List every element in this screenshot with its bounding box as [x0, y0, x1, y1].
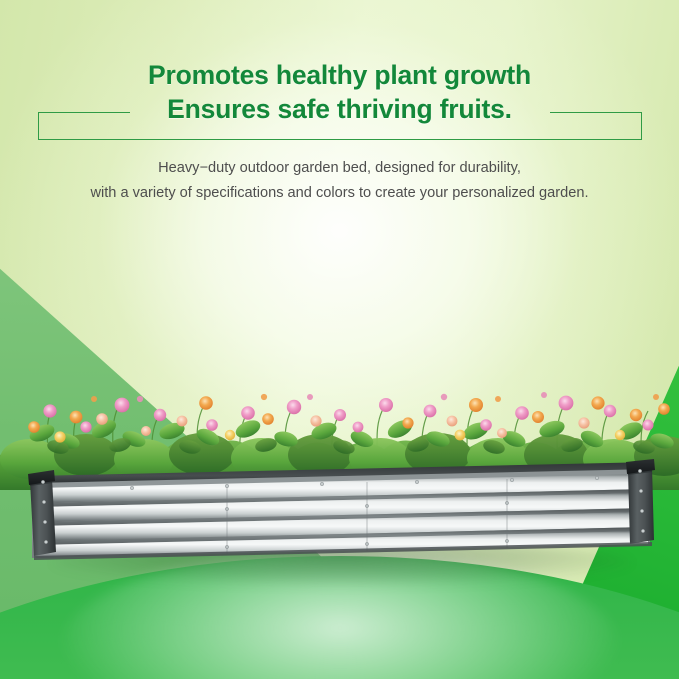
subtitle-line-2: with a variety of specifications and col… — [0, 181, 679, 206]
headline-line-2: Ensures safe thriving fruits. — [0, 92, 679, 126]
headline: Promotes healthy plant growth Ensures sa… — [0, 58, 679, 127]
bed-panel-assembly — [28, 459, 655, 560]
headline-line-1: Promotes healthy plant growth — [148, 60, 531, 90]
subtitle-line-1: Heavy−duty outdoor garden bed, designed … — [158, 160, 521, 176]
garden-bed-product — [22, 452, 662, 562]
product-banner: Promotes healthy plant growth Ensures sa… — [0, 0, 679, 679]
bed-corner-post-right — [626, 459, 655, 544]
subtitle: Heavy−duty outdoor garden bed, designed … — [0, 156, 679, 206]
garden-bed-svg — [22, 452, 662, 562]
